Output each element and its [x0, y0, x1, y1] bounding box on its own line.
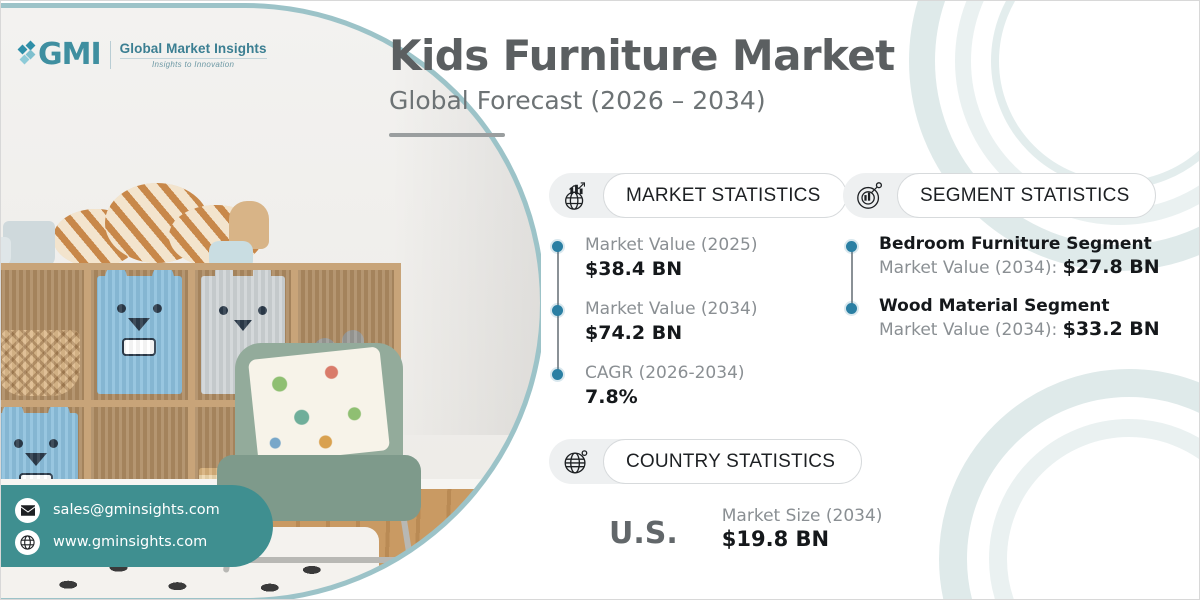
segment-item-label: Market Value (2034):	[879, 320, 1057, 340]
logo-diamond-icon	[19, 42, 35, 68]
contact-website: www.gminsights.com	[53, 534, 207, 550]
bullet-dot	[552, 305, 563, 316]
shelf-cell	[1, 270, 84, 400]
country-statistics-body: U.S. Market Size (2034) $19.8 BN	[549, 506, 882, 551]
market-item-label: Market Value (2034)	[585, 298, 847, 321]
page-title: Kids Furniture Market	[389, 31, 1169, 80]
bear-storage-bin	[97, 276, 181, 394]
bullet-dot	[552, 369, 563, 380]
bullet-dot	[846, 241, 857, 252]
segment-item-label: Market Value (2034):	[879, 258, 1057, 278]
logo-abbrev: GMI	[38, 37, 101, 72]
header: Kids Furniture Market Global Forecast (2…	[389, 31, 1169, 137]
market-item-cagr: CAGR (2026-2034) 7.8%	[585, 362, 847, 408]
market-item-value: $74.2 BN	[585, 322, 847, 344]
shelf-cell	[91, 270, 187, 400]
bullet-dot	[552, 241, 563, 252]
segment-item-bedroom: Bedroom Furniture Segment Market Value (…	[879, 234, 1160, 278]
pie-chart-target-icon	[843, 173, 897, 218]
country-statistics-label: COUNTRY STATISTICS	[603, 439, 862, 484]
title-underline	[389, 133, 505, 137]
woven-basket	[1, 330, 80, 396]
country-statistics-section: COUNTRY STATISTICS U.S. Market Size (203…	[549, 439, 882, 551]
segment-statistics-section: SEGMENT STATISTICS Bedroom Furniture Seg…	[843, 173, 1160, 358]
segment-statistics-items: Bedroom Furniture Segment Market Value (…	[843, 234, 1160, 340]
market-item-value: $38.4 BN	[585, 258, 847, 280]
market-item-value: 7.8%	[585, 386, 847, 408]
market-statistics-label: MARKET STATISTICS	[603, 173, 847, 218]
segment-item-title: Bedroom Furniture Segment	[879, 234, 1160, 254]
logo-company-name: Global Market Insights	[120, 41, 267, 56]
country-metric-value: $19.8 BN	[722, 527, 883, 551]
gmi-logo[interactable]: GMI Global Market Insights Insights to I…	[19, 37, 267, 72]
contact-banner: sales@gminsights.com www.gminsights.com	[0, 485, 273, 567]
segment-item-value: $33.2 BN	[1063, 318, 1160, 340]
market-item-label: CAGR (2026-2034)	[585, 362, 847, 385]
globe-pin-icon	[549, 439, 603, 484]
market-statistics-section: MARKET STATISTICS Market Value (2025) $3…	[549, 173, 847, 426]
segment-statistics-label: SEGMENT STATISTICS	[897, 173, 1156, 218]
segment-statistics-header: SEGMENT STATISTICS	[843, 173, 1156, 218]
contact-email-row[interactable]: sales@gminsights.com	[15, 498, 273, 523]
decorative-arc-bottom-right	[939, 369, 1200, 600]
contact-website-row[interactable]: www.gminsights.com	[15, 530, 273, 555]
country-name: U.S.	[609, 516, 678, 551]
segment-item-line: Market Value (2034): $27.8 BN	[879, 256, 1160, 278]
market-statistics-items: Market Value (2025) $38.4 BN Market Valu…	[549, 234, 847, 408]
timeline-spine	[851, 244, 853, 312]
infographic-canvas: don't touch my stuff!	[0, 0, 1200, 600]
market-statistics-header: MARKET STATISTICS	[549, 173, 847, 218]
segment-item-line: Market Value (2034): $33.2 BN	[879, 318, 1160, 340]
market-item-2025: Market Value (2025) $38.4 BN	[585, 234, 847, 280]
logo-tagline: Insights to Innovation	[120, 60, 267, 69]
market-item-label: Market Value (2025)	[585, 234, 847, 257]
market-item-2034: Market Value (2034) $74.2 BN	[585, 298, 847, 344]
globe-bar-chart-icon	[549, 173, 603, 218]
bullet-dot	[846, 303, 857, 314]
envelope-icon	[15, 498, 40, 523]
logo-divider	[120, 58, 267, 59]
printed-cushion	[248, 346, 390, 463]
segment-item-title: Wood Material Segment	[879, 296, 1160, 316]
page-subtitle: Global Forecast (2026 – 2034)	[389, 86, 1169, 115]
segment-item-value: $27.8 BN	[1063, 256, 1160, 278]
contact-email: sales@gminsights.com	[53, 502, 220, 518]
globe-icon	[15, 530, 40, 555]
segment-item-wood: Wood Material Segment Market Value (2034…	[879, 296, 1160, 340]
country-statistics-header: COUNTRY STATISTICS	[549, 439, 862, 484]
country-metric-label: Market Size (2034)	[722, 506, 883, 526]
